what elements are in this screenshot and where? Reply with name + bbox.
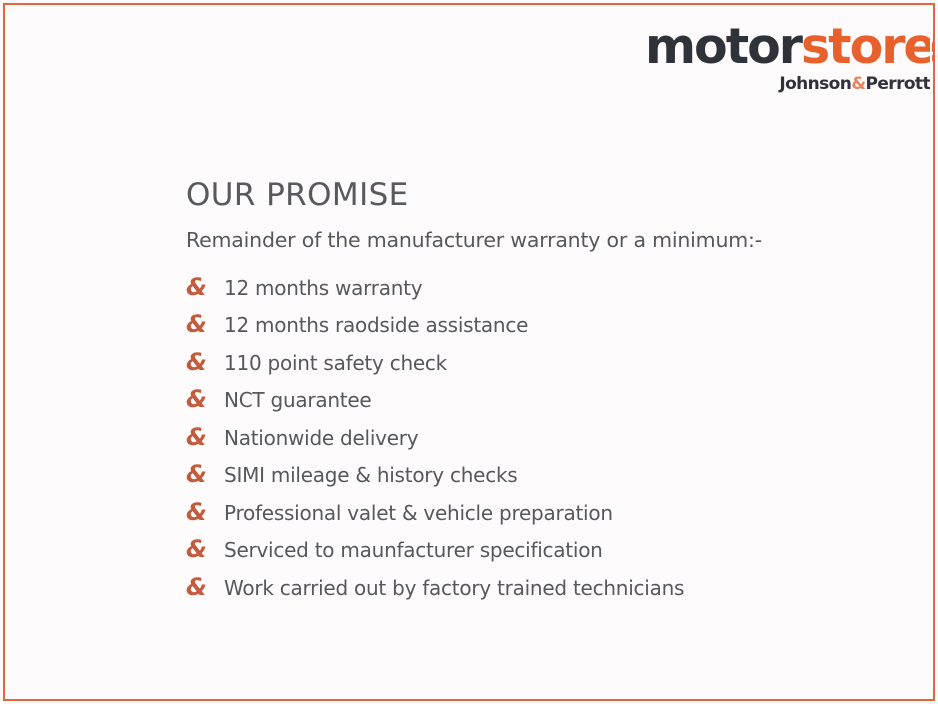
list-item: & Work carried out by factory trained te…	[186, 575, 906, 613]
list-item-label: Serviced to maunfacturer specification	[224, 538, 603, 562]
header-gradient-band	[0, 25, 637, 98]
list-item: & Professional valet & vehicle preparati…	[186, 500, 906, 538]
list-item: & NCT guarantee	[186, 387, 906, 425]
list-item-label: 12 months raodside assistance	[224, 313, 528, 337]
ampersand-bullet-icon: &	[186, 500, 224, 524]
ampersand-bullet-icon: &	[186, 462, 224, 486]
logo-sub-ampersand-icon: &	[851, 74, 865, 94]
list-item-label: 12 months warranty	[224, 276, 422, 300]
list-item-label: Work carried out by factory trained tech…	[224, 576, 684, 600]
ampersand-bullet-icon: &	[186, 275, 224, 299]
ampersand-bullet-icon: &	[186, 575, 224, 599]
list-item: & 110 point safety check	[186, 350, 906, 388]
page-title: OUR PROMISE	[186, 178, 906, 212]
list-item: & 12 months raodside assistance	[186, 312, 906, 350]
list-item-label: 110 point safety check	[224, 351, 447, 375]
ampersand-bullet-icon: &	[186, 350, 224, 374]
ampersand-bullet-icon: &	[186, 425, 224, 449]
ampersand-bullet-icon: &	[186, 387, 224, 411]
promise-slide: motorstore Johnson&Perrott OUR PROMISE R…	[0, 0, 938, 704]
list-item-label: NCT guarantee	[224, 388, 371, 412]
ampersand-bullet-icon: &	[186, 312, 224, 336]
logo-subtitle: Johnson&Perrott	[645, 74, 930, 94]
ampersand-bullet-icon: &	[186, 537, 224, 561]
subtitle: Remainder of the manufacturer warranty o…	[186, 228, 906, 253]
logo-word-motor: motor	[645, 18, 801, 75]
logo-wordmark: motorstore	[645, 22, 930, 71]
logo-sub-perrott: Perrott	[866, 74, 931, 94]
logo-word-store: store	[801, 18, 935, 75]
content-block: OUR PROMISE Remainder of the manufacture…	[186, 178, 906, 612]
brand-logo: motorstore Johnson&Perrott	[645, 22, 930, 94]
list-item: & Nationwide delivery	[186, 425, 906, 463]
list-item-label: SIMI mileage & history checks	[224, 463, 517, 487]
list-item: & SIMI mileage & history checks	[186, 462, 906, 500]
list-item-label: Professional valet & vehicle preparation	[224, 501, 613, 525]
list-item: & 12 months warranty	[186, 275, 906, 313]
list-item-label: Nationwide delivery	[224, 426, 418, 450]
list-item: & Serviced to maunfacturer specification	[186, 537, 906, 575]
logo-sub-johnson: Johnson	[779, 74, 851, 94]
promise-list: & 12 months warranty & 12 months raodsid…	[186, 275, 906, 613]
